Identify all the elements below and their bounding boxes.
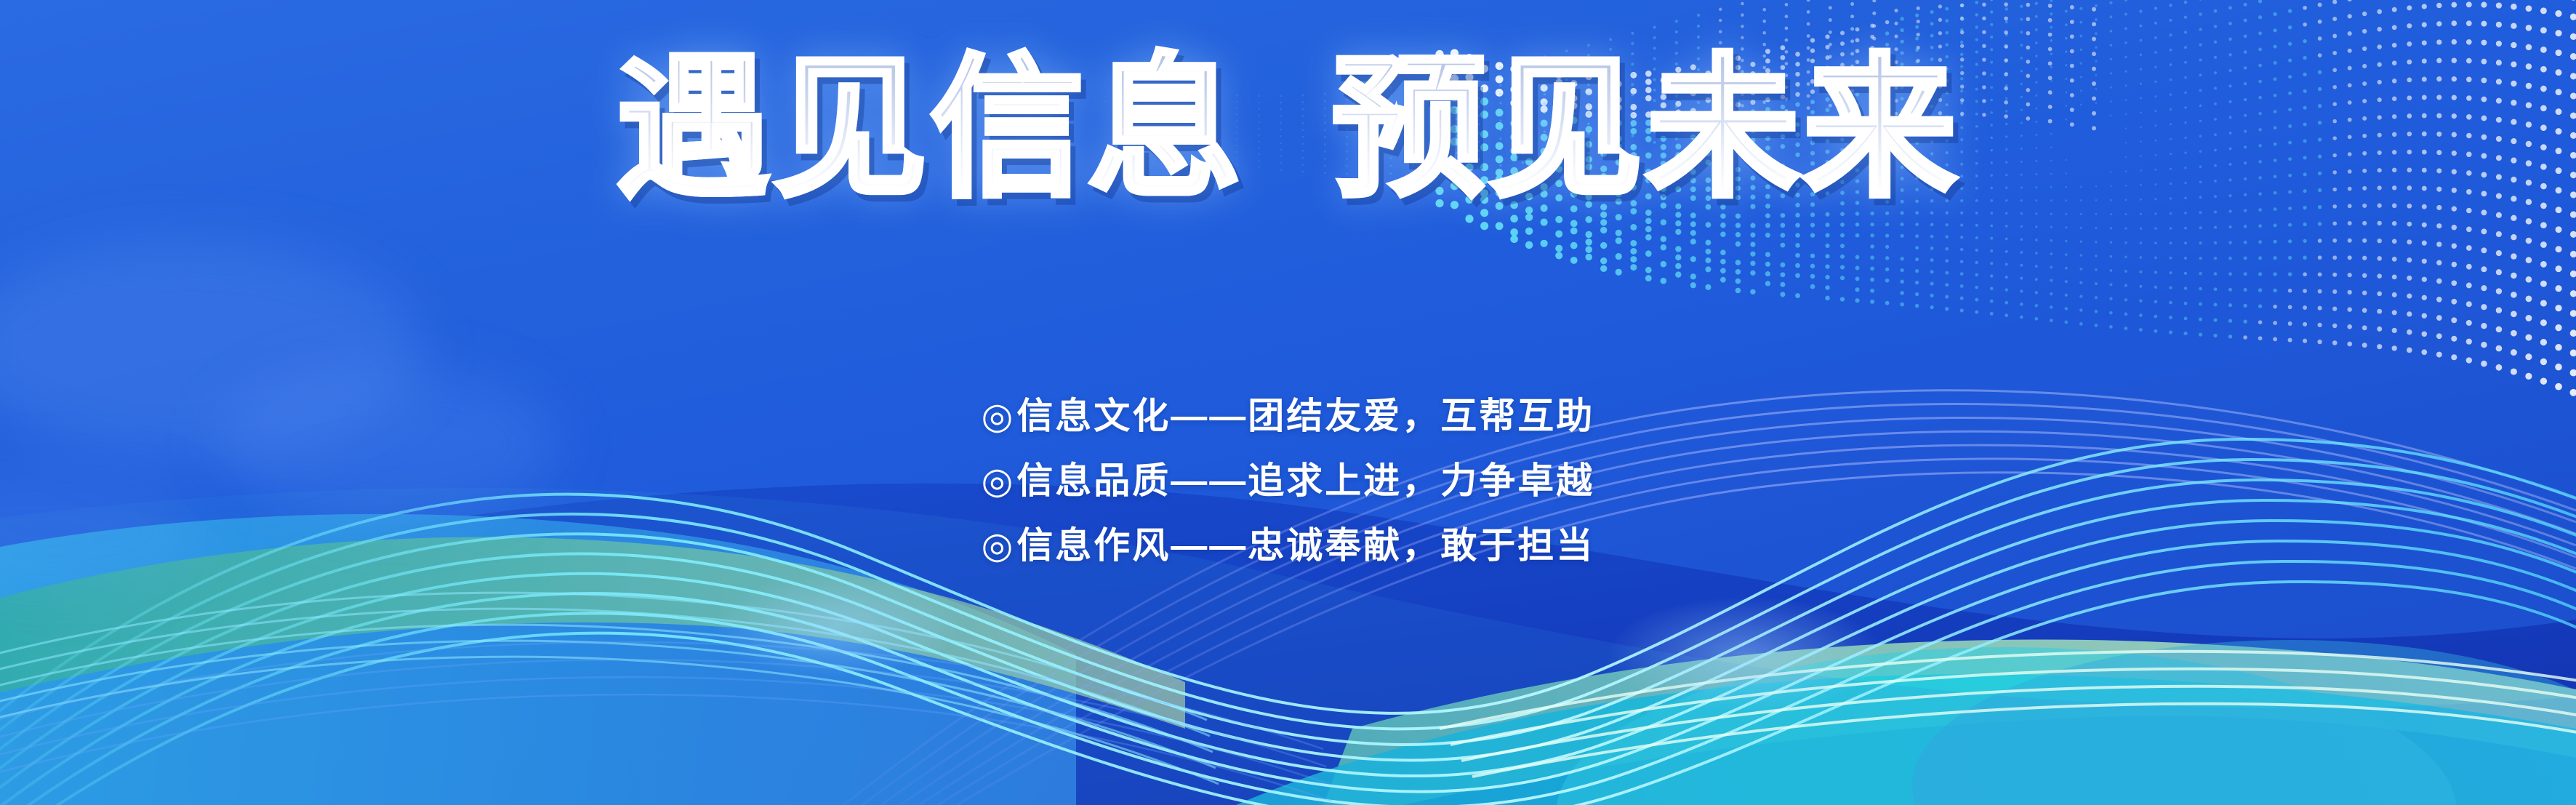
subtitle-block: ◎信息文化——团结友爱，互帮互助 ◎信息品质——追求上进，力争卓越 ◎信息作风—…: [0, 387, 2576, 575]
subtitle-line-3: ◎信息作风——忠诚奉献，敢于担当: [982, 516, 1595, 575]
subtitle-line-2: ◎信息品质——追求上进，力争卓越: [982, 452, 1595, 510]
bullet-icon-1: ◎: [982, 396, 1016, 436]
subtitle-text-1: 信息文化——团结友爱，互帮互助: [1016, 396, 1594, 436]
subtitle-text-2: 信息品质——追求上进，力争卓越: [1016, 460, 1594, 501]
subtitle-line-1: ◎信息文化——团结友爱，互帮互助: [982, 387, 1595, 446]
subtitle-text-3: 信息作风——忠诚奉献，敢于担当: [1016, 525, 1594, 566]
bullet-icon-2: ◎: [982, 460, 1016, 501]
promo-banner: 遇见信息 预见未来 ◎信息文化——团结友爱，互帮互助 ◎信息品质——追求上进，力…: [0, 0, 2576, 805]
bullet-icon-3: ◎: [982, 525, 1016, 566]
